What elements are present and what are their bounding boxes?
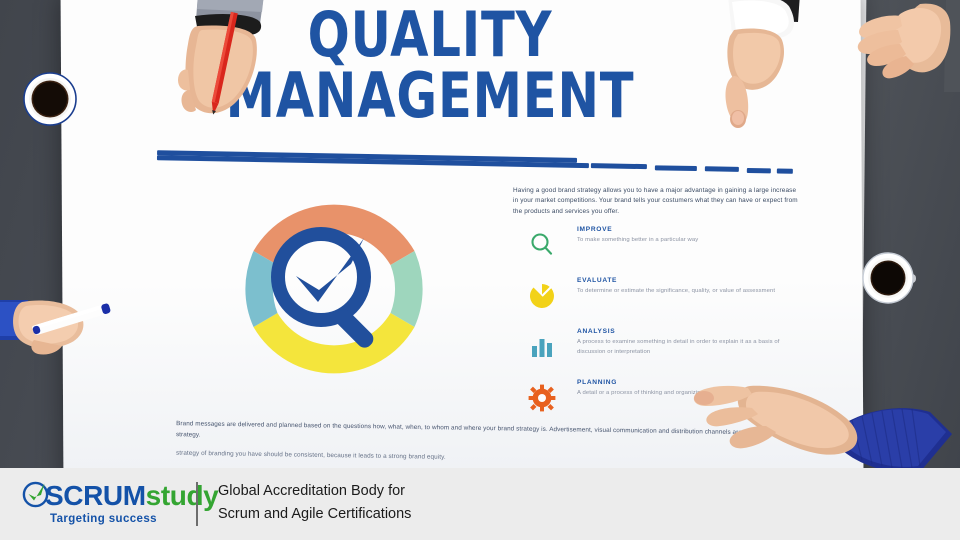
bar-chart-icon	[527, 332, 557, 362]
feature-body: To determine or estimate the significanc…	[577, 287, 799, 297]
gear-icon	[527, 383, 557, 413]
feature-item-analysis: ANALYSIS A process to examine something …	[513, 328, 799, 370]
logo-scrum-text: SCRUM	[45, 480, 146, 511]
feature-heading: IMPROVE	[577, 226, 799, 233]
logo-tagline: Targeting success	[50, 513, 218, 525]
feature-body: A process to examine something in detail…	[577, 338, 799, 357]
footer-text-line-2: Scrum and Agile Certifications	[218, 503, 411, 526]
footer-text: Global Accreditation Body for Scrum and …	[218, 480, 411, 527]
quality-donut-graphic	[218, 178, 450, 400]
hand-holding-pencil	[168, 0, 288, 134]
logo-study-text: study	[146, 480, 219, 511]
feature-body: To make something better in a particular…	[577, 236, 799, 246]
check-circle-icon	[22, 481, 49, 508]
hand-pointing-down	[712, 0, 822, 139]
feature-heading: ANALYSIS	[577, 328, 799, 335]
screenshot-root: QUALITY MANAGEMENT	[0, 0, 960, 540]
footer-bar: SCRUMstudy Targeting success Global Accr…	[0, 468, 960, 540]
intro-paragraph: Having a good brand strategy allows you …	[513, 186, 799, 217]
feature-item-evaluate: EVALUATE To determine or estimate the si…	[513, 277, 799, 319]
footer-divider	[196, 482, 198, 526]
feature-heading: EVALUATE	[577, 277, 799, 284]
hand-holding-pen	[0, 286, 124, 372]
footer-text-line-1: Global Accreditation Body for	[218, 480, 411, 503]
scrumstudy-logo[interactable]: SCRUMstudy Targeting success	[22, 482, 218, 525]
magnifier-icon	[527, 230, 557, 260]
coffee-cup-left	[20, 66, 84, 130]
feature-item-improve: IMPROVE To make something better in a pa…	[513, 226, 799, 268]
donut-right-segment	[391, 251, 423, 327]
hand-flat	[850, 0, 960, 100]
pie-chart-icon	[527, 281, 557, 311]
coffee-cup-right	[860, 248, 922, 310]
